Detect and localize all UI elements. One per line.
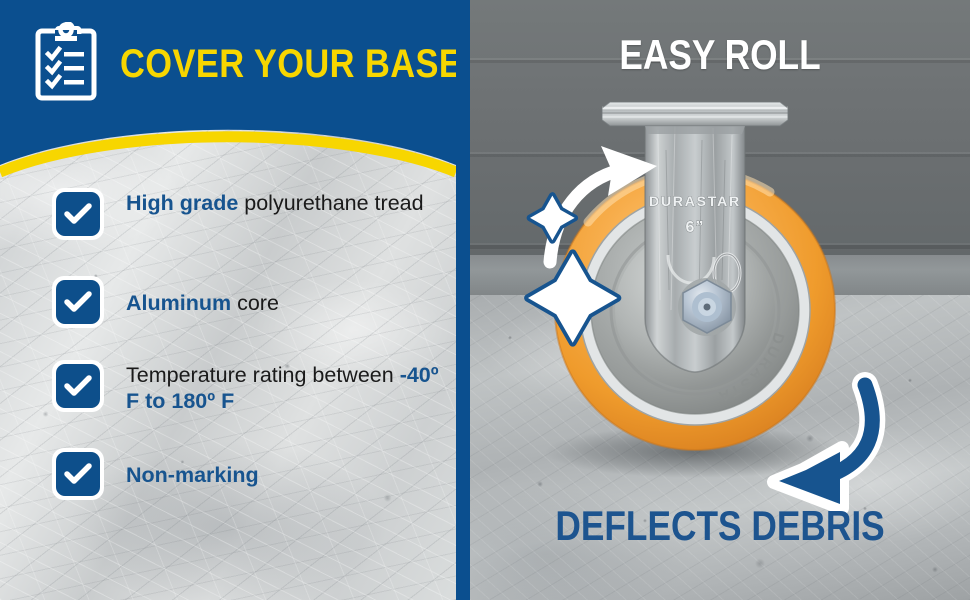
check-icon — [56, 192, 100, 236]
header-band: COVER YOUR BASES — [0, 0, 456, 190]
feature-emphasis-text: Non-marking — [126, 463, 259, 487]
feature-item-temperature-rating: Temperature rating between -40º F to 180… — [0, 360, 456, 416]
feature-item-non-marking: Non-marking — [0, 446, 456, 502]
feature-label-temperature-rating: Temperature rating between -40º F to 180… — [126, 360, 456, 414]
checkbox-non-marking — [52, 448, 104, 500]
checkbox-temperature-rating — [52, 360, 104, 412]
feature-plain-text: Temperature rating between — [126, 363, 400, 387]
right-panel-title: EASY ROLL — [510, 34, 930, 76]
feature-item-high-grade-tread: High grade polyurethane tread — [0, 188, 456, 244]
feature-emphasis-text: High grade — [126, 191, 238, 215]
feature-label-aluminum-core: Aluminum core — [126, 288, 279, 316]
check-icon — [56, 364, 100, 408]
page-title: COVER YOUR BASES — [120, 44, 456, 84]
feature-emphasis-text: Aluminum — [126, 291, 231, 315]
check-icon — [56, 452, 100, 496]
infographic-root: COVER YOUR BASES High grade polyurethane… — [0, 0, 970, 600]
feature-plain-text: polyurethane tread — [238, 191, 423, 215]
left-panel: COVER YOUR BASES High grade polyurethane… — [0, 0, 456, 600]
right-panel-subtitle: DEFLECTS DEBRIS — [510, 505, 930, 547]
checkbox-aluminum-core — [52, 276, 104, 328]
concrete-floor-background — [470, 295, 970, 600]
feature-item-aluminum-core: Aluminum core — [0, 274, 456, 330]
clipboard-checklist-icon — [34, 22, 98, 102]
panel-divider — [456, 0, 470, 600]
checkbox-high-grade-tread — [52, 188, 104, 240]
wall-base-trim — [470, 255, 970, 297]
right-panel: DURASTAR DURASTA — [470, 0, 970, 600]
feature-label-non-marking: Non-marking — [126, 460, 259, 488]
feature-plain-text: core — [231, 291, 279, 315]
check-icon — [56, 280, 100, 324]
feature-list: High grade polyurethane tread Aluminum c… — [0, 188, 456, 532]
feature-label-high-grade-tread: High grade polyurethane tread — [126, 188, 424, 216]
